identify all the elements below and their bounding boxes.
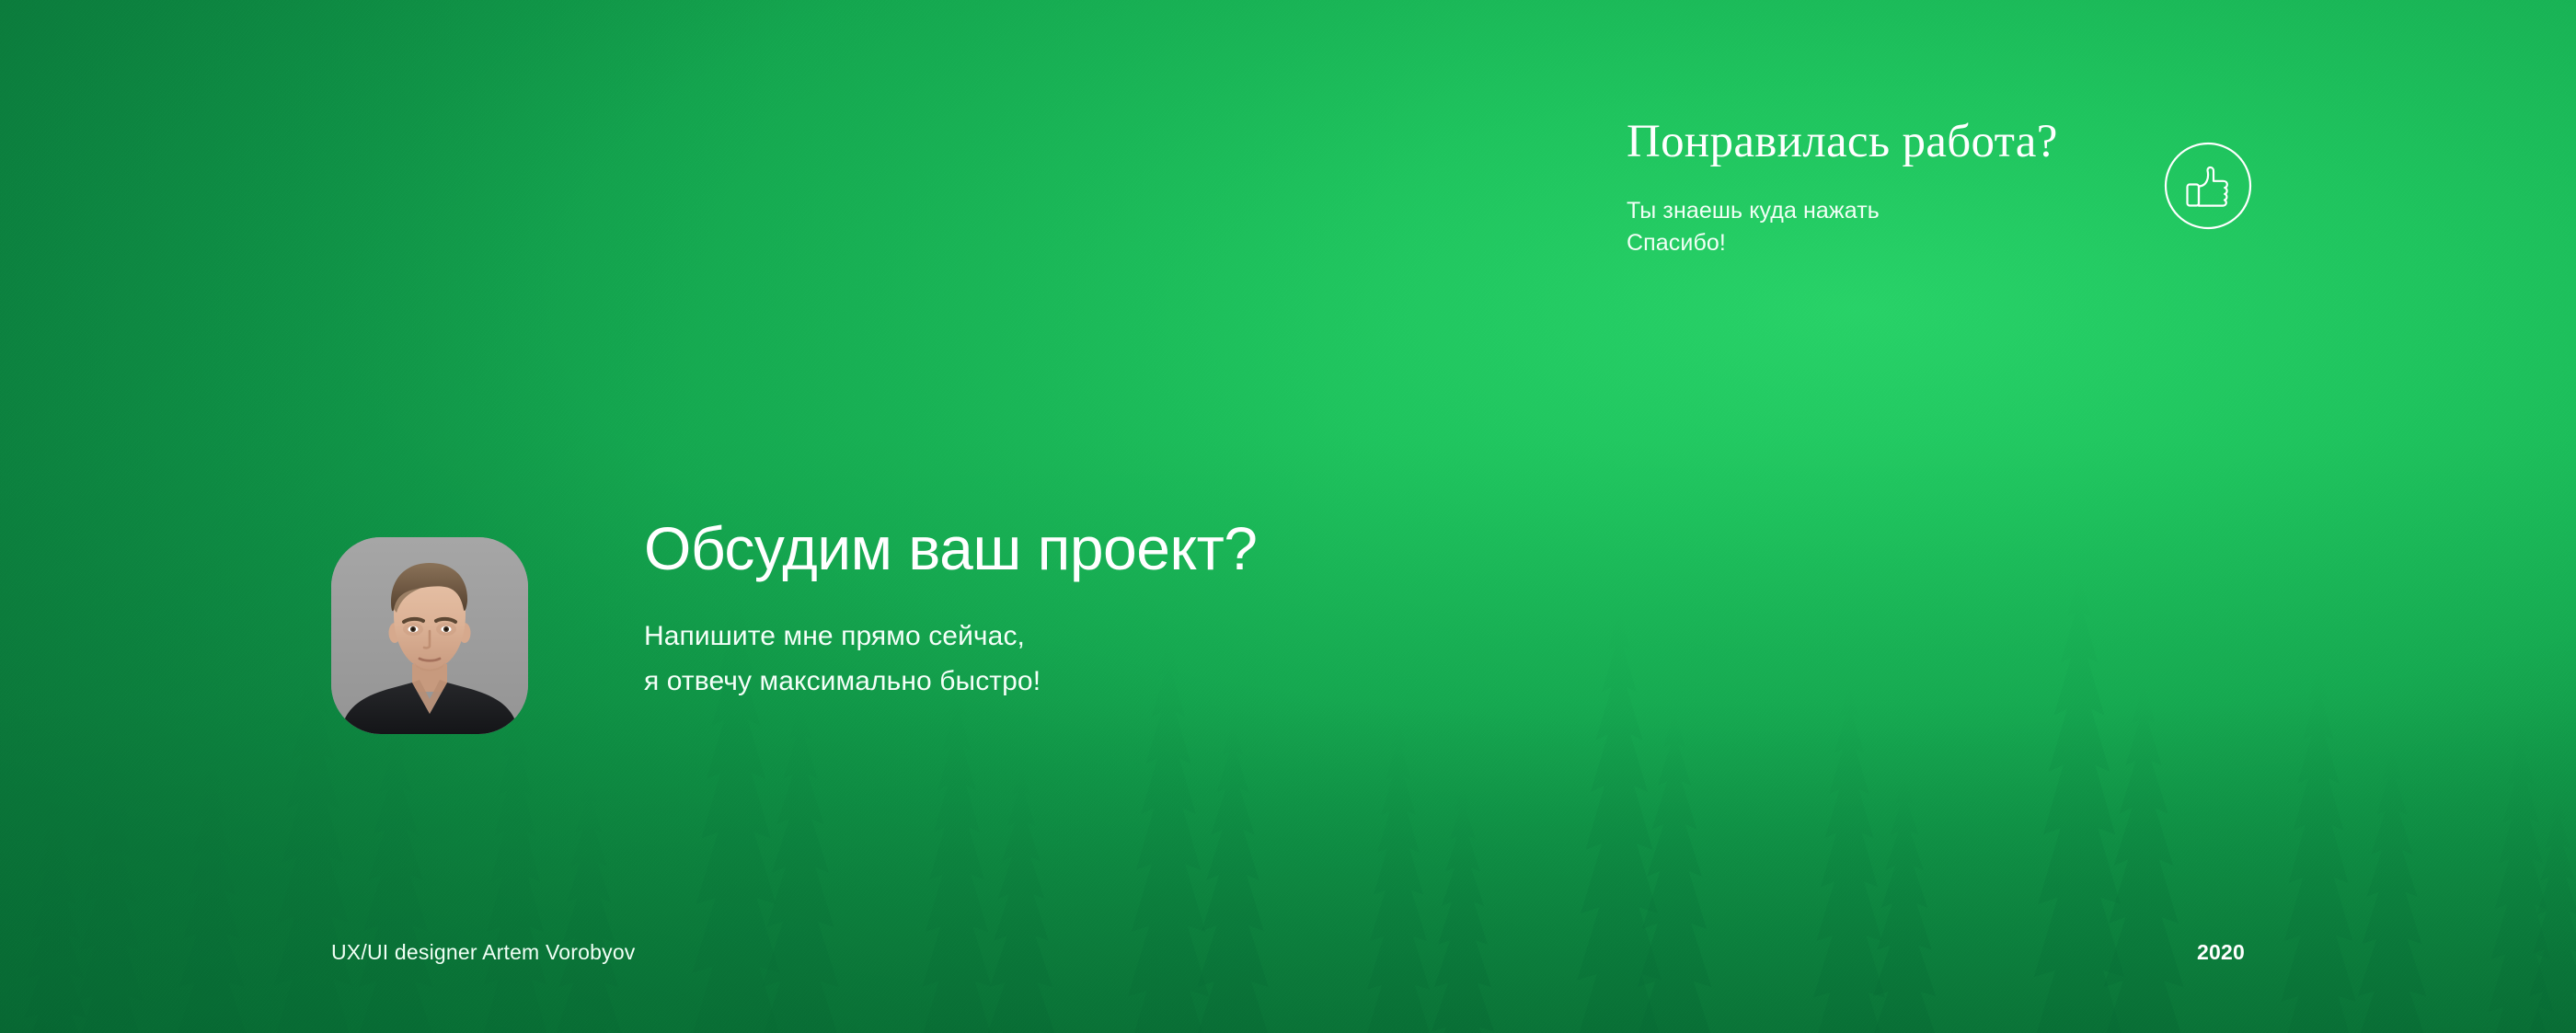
contact-subtitle: Напишите мне прямо сейчас, я отвечу макс… <box>644 614 1840 704</box>
footer-credit: UX/UI designer Artem Vorobyov <box>331 940 636 965</box>
page-title: Обсудим ваш проект? <box>644 517 1840 581</box>
thumbs-up-icon[interactable] <box>2162 140 2254 232</box>
like-prompt-subtitle-line-2: Спасибо! <box>1627 227 2289 260</box>
footer-year: 2020 <box>2197 940 2245 965</box>
presentation-slide: Понравилась работа? Ты знаешь куда нажат… <box>0 0 2576 1033</box>
avatar <box>331 537 528 734</box>
contact-block: Обсудим ваш проект? Напишите мне прямо с… <box>644 517 1840 704</box>
contact-subtitle-line-1: Напишите мне прямо сейчас, <box>644 614 1840 660</box>
contact-subtitle-line-2: я отвечу максимально быстро! <box>644 660 1840 705</box>
